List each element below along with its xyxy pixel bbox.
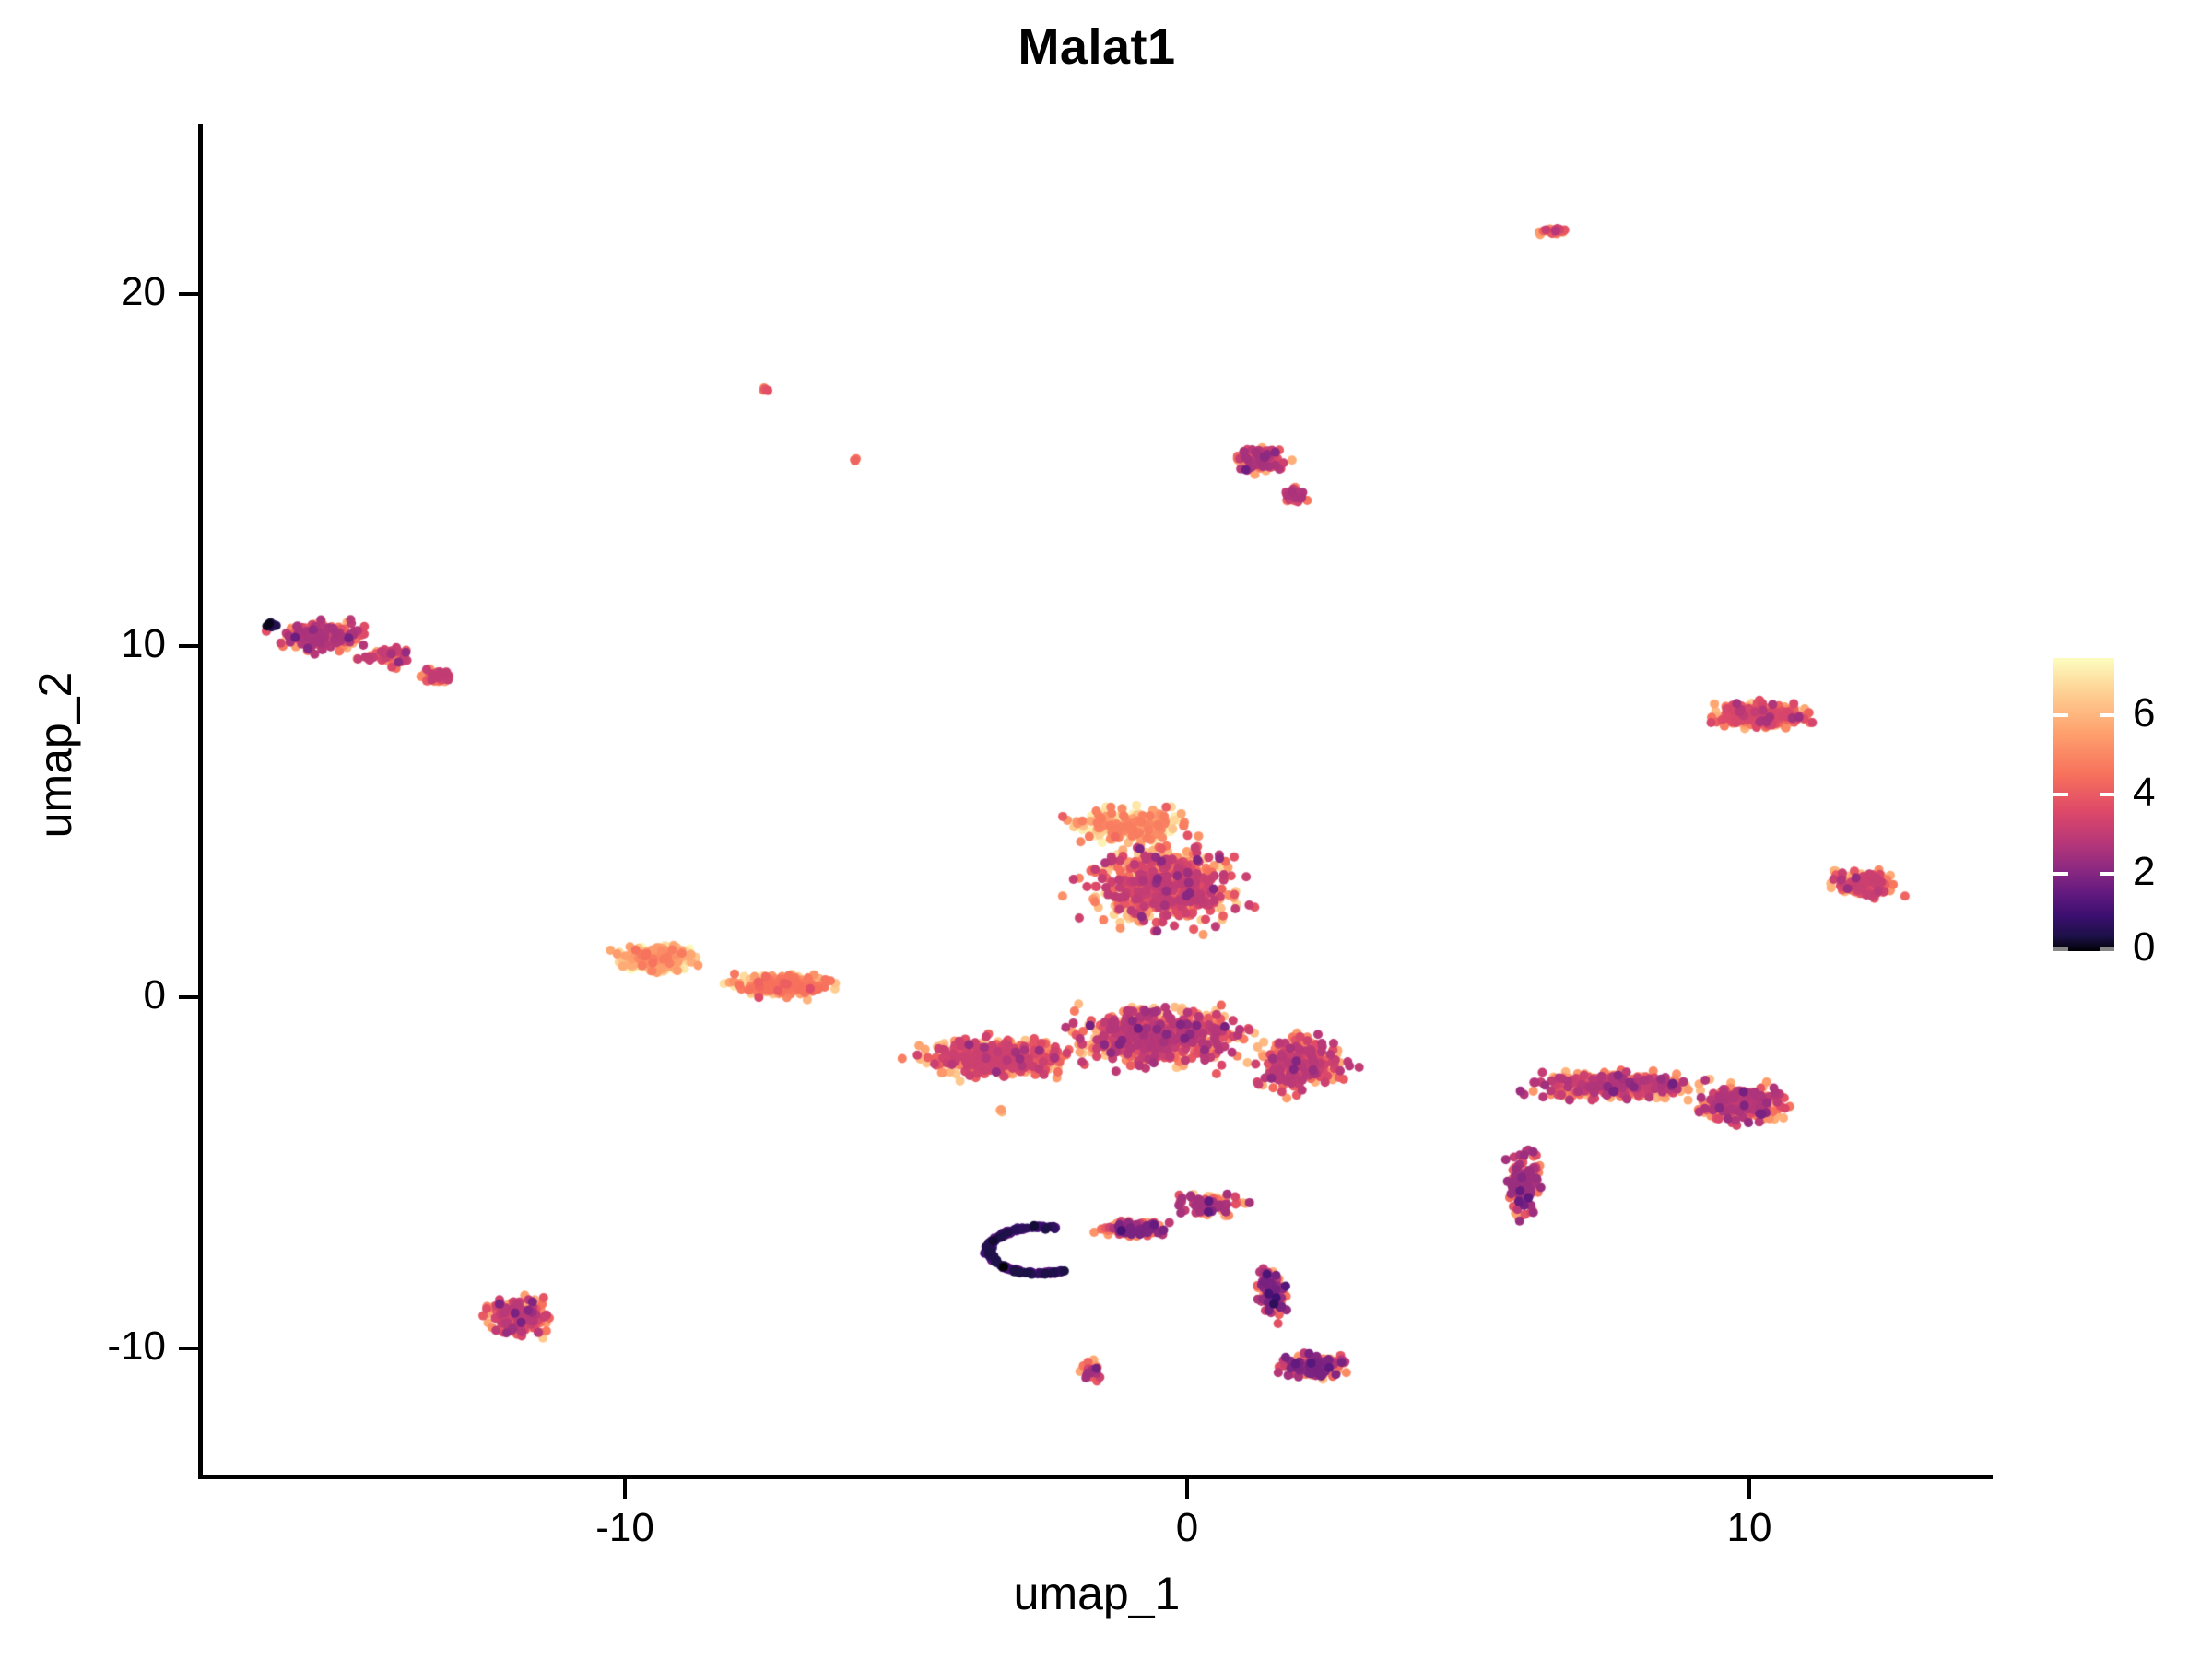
colorbar-tick-mark (2100, 793, 2114, 796)
x-axis-title: umap_1 (0, 1567, 2203, 1620)
colorbar-tick-label: 6 (2133, 693, 2212, 734)
colorbar-tick-mark (2053, 713, 2068, 717)
y-tick-mark (179, 1347, 199, 1350)
y-tick-mark (179, 292, 199, 296)
x-tick-label: 10 (1648, 1508, 1851, 1548)
x-tick-mark (623, 1478, 627, 1499)
colorbar-tick-mark (2100, 872, 2114, 876)
colorbar-gradient (2053, 658, 2114, 951)
colorbar-tick-mark (2100, 713, 2114, 717)
colorbar-tick-label: 0 (2133, 927, 2212, 968)
y-tick-label: 20 (0, 272, 166, 312)
y-axis-title: umap_2 (29, 571, 82, 939)
plot-panel (201, 124, 1991, 1477)
colorbar-tick-label: 4 (2133, 772, 2212, 813)
y-tick-mark (179, 995, 199, 999)
colorbar-tick-mark (2053, 872, 2068, 876)
y-tick-label: -10 (0, 1326, 166, 1367)
colorbar-tick-label: 2 (2133, 852, 2212, 892)
colorbar-tick-mark (2053, 793, 2068, 796)
x-tick-label: 0 (1086, 1508, 1288, 1548)
x-tick-mark (1185, 1478, 1189, 1499)
chart-root: Malat1 -1001020 -10010 umap_1 umap_2 024… (0, 0, 2212, 1659)
y-axis-line (198, 124, 203, 1479)
colorbar-legend: 0246 (2053, 658, 2210, 953)
x-tick-mark (1747, 1478, 1751, 1499)
scatter-points-layer (201, 124, 1991, 1477)
x-tick-label: -10 (524, 1508, 726, 1548)
page-title: Malat1 (0, 18, 2203, 76)
y-tick-label: 0 (0, 975, 166, 1016)
x-axis-line (198, 1475, 1993, 1479)
y-tick-mark (179, 644, 199, 648)
colorbar-tick-mark (2053, 947, 2068, 951)
colorbar-tick-mark (2100, 947, 2114, 951)
y-tick-label: 10 (0, 624, 166, 665)
